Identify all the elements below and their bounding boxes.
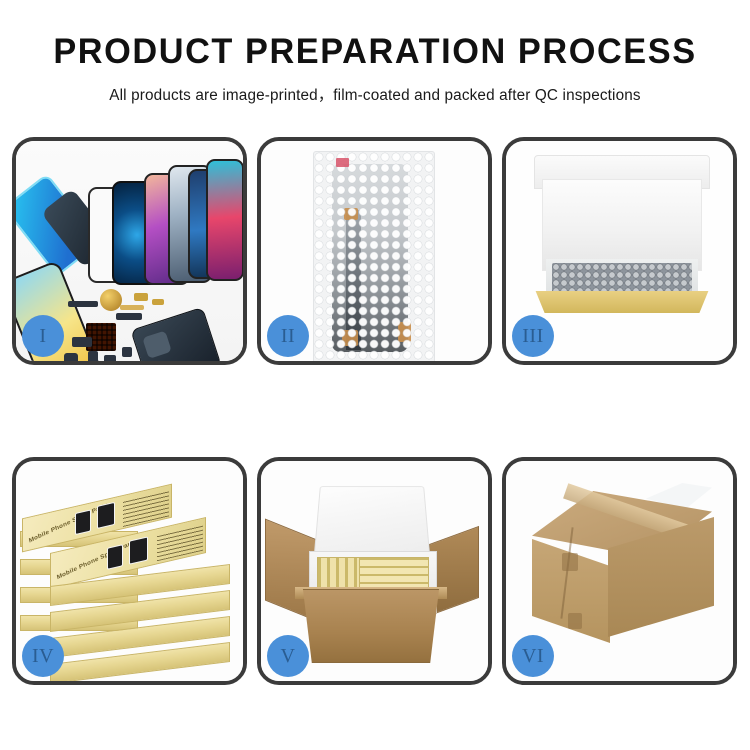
page-title: PRODUCT PREPARATION PROCESS <box>8 34 743 71</box>
page-subtitle: All products are image-printed，film-coat… <box>0 83 750 105</box>
foam-sheet <box>542 179 702 271</box>
bubble-texture <box>314 152 434 361</box>
carton-tab-upper <box>562 553 578 571</box>
part-chip-4 <box>88 351 98 361</box>
step-badge-1: I <box>22 315 64 357</box>
part-chip-6 <box>122 347 132 357</box>
box-thumbnail-a2 <box>97 502 115 529</box>
product-preparation-infographic: PRODUCT PREPARATION PROCESS All products… <box>0 0 750 750</box>
box-thumbnail-b2 <box>129 536 148 564</box>
step-2-image: II <box>261 141 488 361</box>
header: PRODUCT PREPARATION PROCESS All products… <box>0 0 750 105</box>
step-5-image: V <box>261 461 488 681</box>
part-gold-2 <box>152 299 164 305</box>
step-panel-6: VI <box>502 457 737 685</box>
process-step-grid: I II <box>12 137 738 689</box>
step-badge-3: III <box>512 315 554 357</box>
part-strip-1 <box>68 301 98 307</box>
step-badge-6: VI <box>512 635 554 677</box>
step-1-image: I <box>16 141 243 361</box>
step-panel-4: Mobile Phone Spare Parts Mobile Phone Sp… <box>12 457 247 685</box>
step-badge-4: IV <box>22 635 64 677</box>
step-3-image: III <box>506 141 733 361</box>
step-badge-5: V <box>267 635 309 677</box>
step-6-image: VI <box>506 461 733 681</box>
part-chip-3 <box>64 353 78 361</box>
box-thumbnail-a1 <box>75 509 91 535</box>
foam-lid-open <box>314 486 430 555</box>
box-thumbnail-b1 <box>107 544 123 570</box>
bubble-wrap-bag <box>313 151 435 361</box>
step-panel-5: V <box>257 457 492 685</box>
step-panel-3: III <box>502 137 737 365</box>
step-panel-2: II <box>257 137 492 365</box>
red-label-sticker <box>336 158 349 167</box>
kraft-box-front <box>532 291 712 313</box>
carton-front-panel <box>297 589 445 663</box>
grey-bubble-wrap-contents <box>552 263 692 295</box>
step-badge-2: II <box>267 315 309 357</box>
phone-gradient <box>206 159 243 281</box>
step-4-image: Mobile Phone Spare Parts Mobile Phone Sp… <box>16 461 243 681</box>
carton-tab-lower <box>568 613 582 629</box>
part-chip-7 <box>116 313 142 320</box>
step-panel-1: I <box>12 137 247 365</box>
part-gold-1 <box>134 293 148 301</box>
speaker-component <box>100 289 122 311</box>
part-chip-5 <box>104 355 116 361</box>
part-chip-2 <box>72 337 92 347</box>
flex-cable-1 <box>120 305 144 310</box>
